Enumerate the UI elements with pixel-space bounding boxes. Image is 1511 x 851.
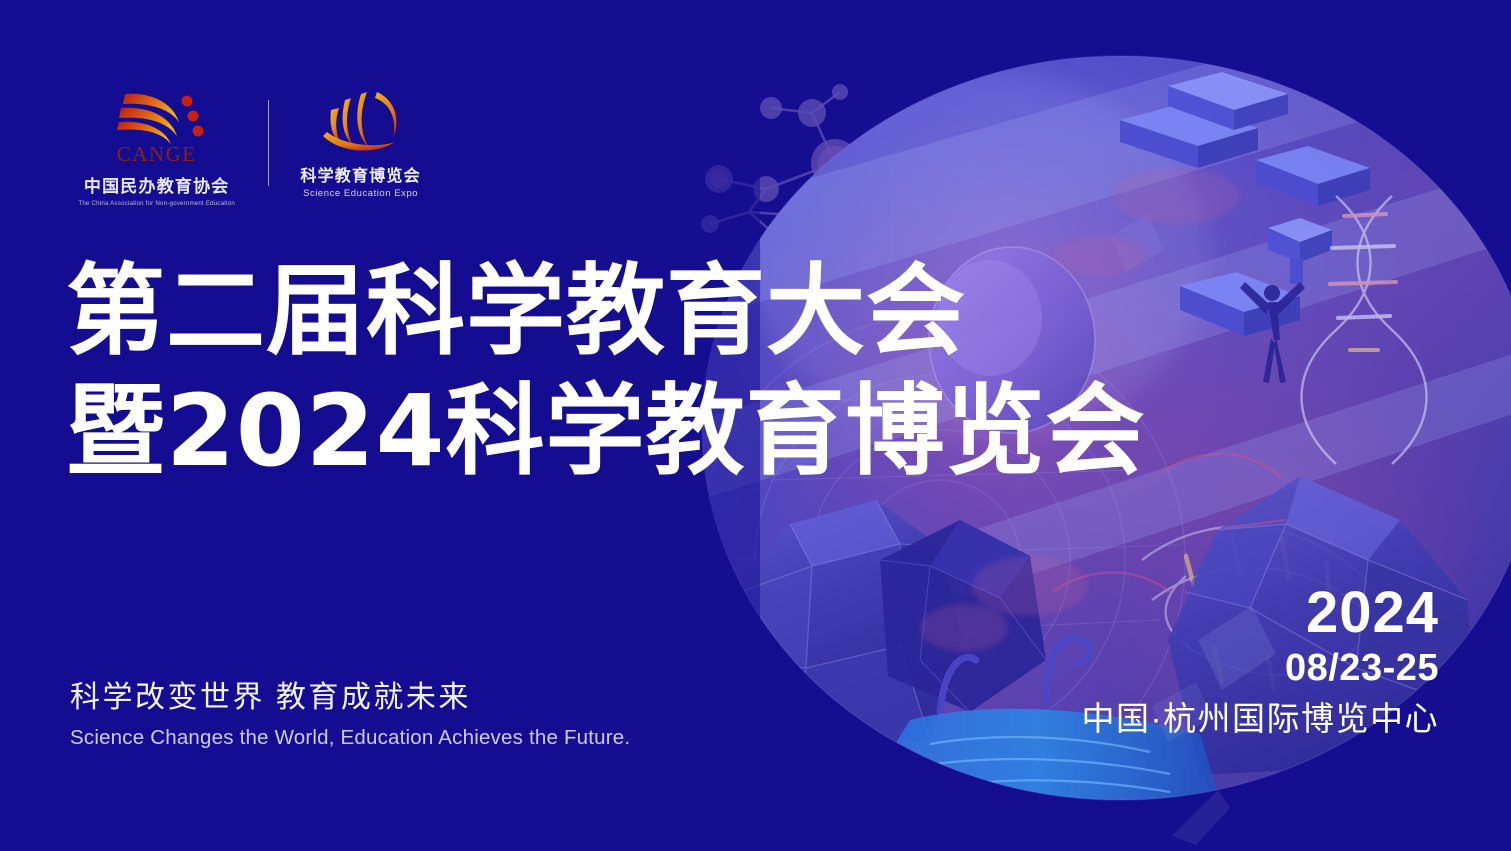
tagline-en: Science Changes the World, Education Ach…	[70, 726, 630, 750]
association-logo: CANGE 中国民办教育协会 The China Association for…	[76, 86, 237, 207]
event-details: 2024 08/23-25 中国·杭州国际博览中心	[1082, 584, 1440, 739]
expo-logo: 科学教育博览会 Science Education Expo	[300, 86, 420, 199]
logo-divider	[268, 100, 269, 186]
page-title: 第二届科学教育大会 暨2024科学教育博览会	[66, 252, 1146, 492]
event-venue: 中国·杭州国际博览中心	[1082, 699, 1440, 739]
association-name-en: The China Association for Non-government…	[78, 200, 235, 207]
headline-line-2: 暨2024科学教育博览会	[66, 372, 1146, 492]
tagline-cn: 科学改变世界 教育成就未来	[70, 672, 630, 716]
headline-line-1: 第二届科学教育大会	[66, 252, 1146, 372]
event-date-range: 08/23-25	[1082, 646, 1440, 690]
logo-lockup: CANGE 中国民办教育协会 The China Association for…	[76, 86, 421, 207]
event-poster: CANGE 中国民办教育协会 The China Association for…	[0, 0, 1511, 851]
event-year: 2024	[1082, 584, 1440, 642]
expo-sail-logo	[309, 86, 413, 156]
association-name-cn: 中国民办教育协会	[84, 172, 230, 197]
expo-name-en: Science Education Expo	[303, 188, 418, 199]
cange-swoosh-logo	[109, 86, 205, 148]
expo-name-cn: 科学教育博览会	[300, 162, 420, 186]
tagline: 科学改变世界 教育成就未来 Science Changes the World,…	[70, 672, 630, 750]
cange-acronym: CANGE	[117, 142, 197, 167]
